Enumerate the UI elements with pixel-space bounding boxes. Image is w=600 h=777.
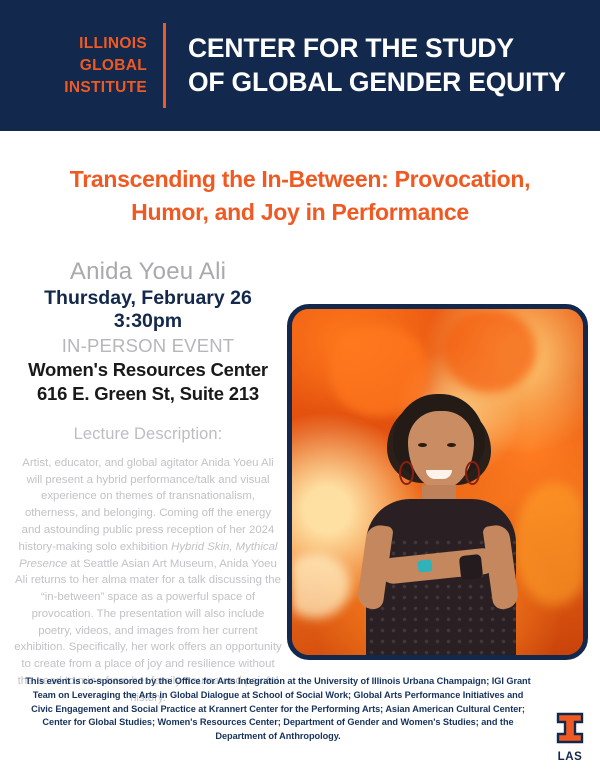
subject-smile [426, 470, 452, 479]
lecture-description-heading: Lecture Description: [8, 425, 288, 444]
lecture-body-part-1: Artist, educator, and global agitator An… [19, 457, 275, 553]
subject-eye-left [418, 443, 427, 447]
block-i-icon [556, 712, 584, 744]
las-logo: LAS [548, 712, 592, 763]
speaker-name: Anida Yoeu Ali [8, 258, 288, 287]
venue-name: Women's Resources Center [8, 358, 288, 382]
event-details: Anida Yoeu Ali Thursday, February 26 3:3… [8, 258, 288, 706]
subject-eye-right [447, 443, 456, 447]
photo-subject [292, 309, 583, 655]
lecture-description-body: Artist, educator, and global agitator An… [8, 455, 288, 706]
header-divider [163, 23, 166, 108]
center-name-line-2: OF GLOBAL GENDER EQUITY [188, 66, 566, 100]
igi-line-3: INSTITUTE [22, 77, 147, 99]
subject-earring-right [465, 461, 480, 485]
igi-line-2: GLOBAL [22, 55, 147, 77]
page-title-line-2: Humor, and Joy in Performance [0, 196, 600, 229]
event-time: 3:30pm [8, 310, 288, 333]
las-label: LAS [548, 751, 592, 763]
page-title: Transcending the In-Between: Provocation… [0, 163, 600, 228]
speaker-photo [287, 304, 588, 660]
header-band: ILLINOIS GLOBAL INSTITUTE CENTER FOR THE… [0, 0, 600, 131]
sponsors-text: This event is co-sponsored by the Office… [22, 675, 534, 744]
subject-turquoise-ring [417, 559, 432, 572]
event-mode: IN-PERSON EVENT [8, 334, 288, 358]
subject-wrist-cuff [458, 554, 482, 580]
subject-earring-left [399, 461, 414, 485]
event-date: Thursday, February 26 [8, 287, 288, 310]
venue-address: 616 E. Green St, Suite 213 [8, 382, 288, 406]
page-title-line-1: Transcending the In-Between: Provocation… [0, 163, 600, 196]
center-name-line-1: CENTER FOR THE STUDY [188, 32, 566, 66]
illinois-global-institute-logo: ILLINOIS GLOBAL INSTITUTE [22, 33, 147, 99]
center-name: CENTER FOR THE STUDY OF GLOBAL GENDER EQ… [188, 32, 566, 100]
igi-line-1: ILLINOIS [22, 33, 147, 55]
